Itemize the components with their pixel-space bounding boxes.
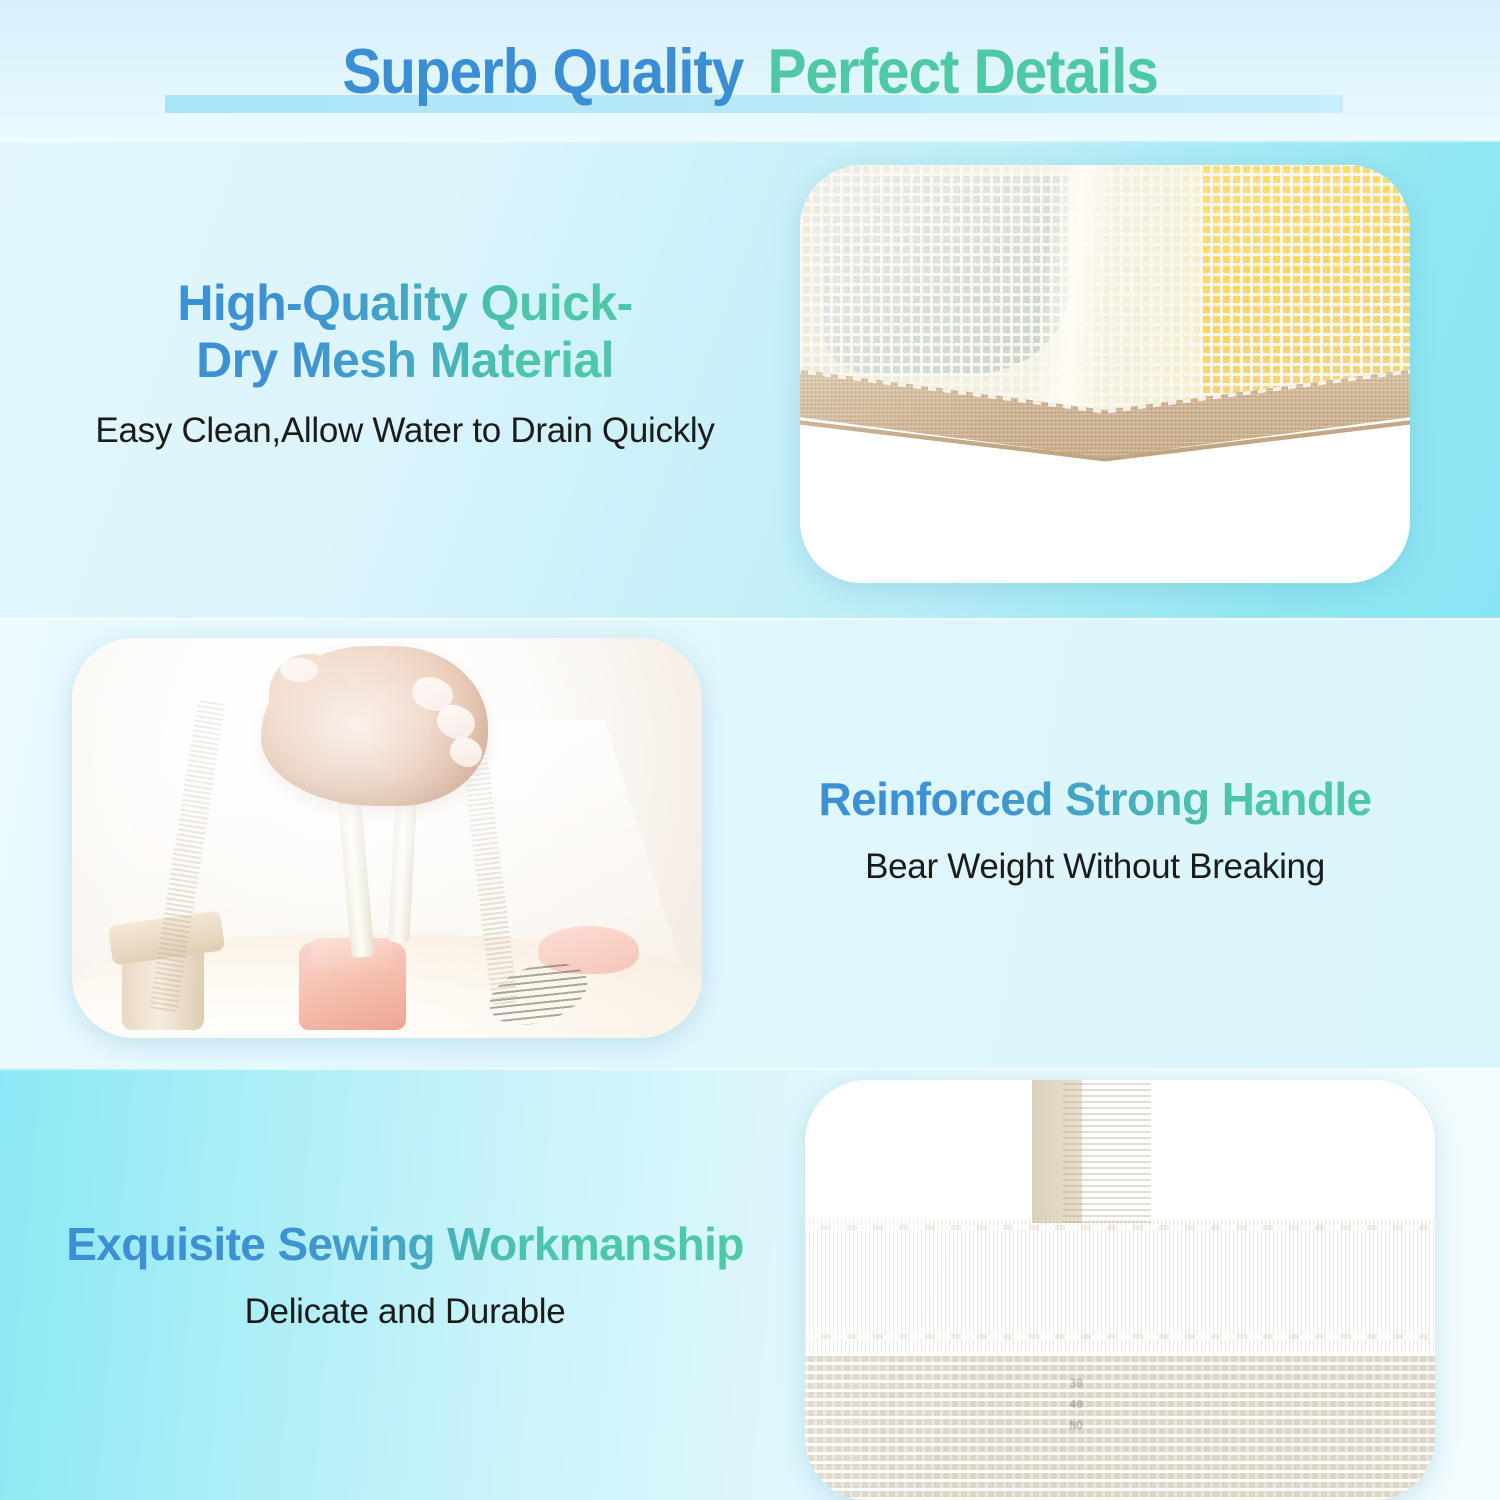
- feature-image-sewing-workmanship: 30 40 NO: [805, 1080, 1435, 1500]
- title-part-superb-quality: Superb Quality: [342, 37, 743, 107]
- feature-subtitle-mesh-material: Easy Clean,Allow Water to Drain Quickly: [45, 411, 765, 451]
- section-divider-top: [0, 140, 1500, 143]
- feature-section-sewing-workmanship: Exquisite Sewing Workmanship Delicate an…: [0, 1068, 1500, 1500]
- care-label-line-3: NO: [1070, 1416, 1234, 1437]
- hand-handle-photo: [72, 638, 702, 1038]
- feature-text-strong-handle: Reinforced Strong Handle Bear Weight Wit…: [700, 773, 1490, 887]
- feature-subtitle-strong-handle: Bear Weight Without Breaking: [700, 847, 1490, 887]
- feature-heading-sewing-workmanship: Exquisite Sewing Workmanship: [10, 1218, 800, 1270]
- section-divider-middle: [0, 618, 1500, 621]
- feature-image-mesh-material: [800, 165, 1410, 583]
- section-divider-bottom: [0, 1068, 1500, 1071]
- page-title: Superb QualityPerfect Details: [53, 36, 1448, 108]
- care-label: 30 40 NO: [1070, 1374, 1234, 1492]
- feature-heading-strong-handle: Reinforced Strong Handle: [700, 773, 1490, 825]
- banner-header: Superb QualityPerfect Details: [0, 0, 1500, 140]
- webbing-strap: [1063, 1080, 1151, 1223]
- feature-section-mesh-material: High-Quality Quick- Dry Mesh Material Ea…: [0, 140, 1500, 618]
- care-label-line-1: 30: [1070, 1374, 1234, 1395]
- feature-subtitle-sewing-workmanship: Delicate and Durable: [10, 1292, 800, 1332]
- stitch-line-top: [805, 1225, 1435, 1230]
- beige-binding-band: [805, 1219, 1435, 1353]
- feature-text-sewing-workmanship: Exquisite Sewing Workmanship Delicate an…: [10, 1218, 800, 1332]
- stitched-seam-photo: 30 40 NO: [805, 1080, 1435, 1500]
- stitch-line-bottom: [805, 1334, 1435, 1339]
- feature-image-strong-handle: [72, 638, 702, 1038]
- feature-text-mesh-material: High-Quality Quick- Dry Mesh Material Ea…: [45, 275, 765, 451]
- care-label-line-2: 40: [1070, 1395, 1234, 1416]
- feature-section-strong-handle: Reinforced Strong Handle Bear Weight Wit…: [0, 618, 1500, 1068]
- mesh-corner-photo: [800, 165, 1410, 583]
- photo-highlight-glow: [72, 638, 702, 1038]
- title-part-perfect-details: Perfect Details: [767, 37, 1157, 107]
- infographic-page: Superb QualityPerfect Details High-Quali…: [0, 0, 1500, 1500]
- feature-heading-mesh-material: High-Quality Quick- Dry Mesh Material: [45, 275, 765, 389]
